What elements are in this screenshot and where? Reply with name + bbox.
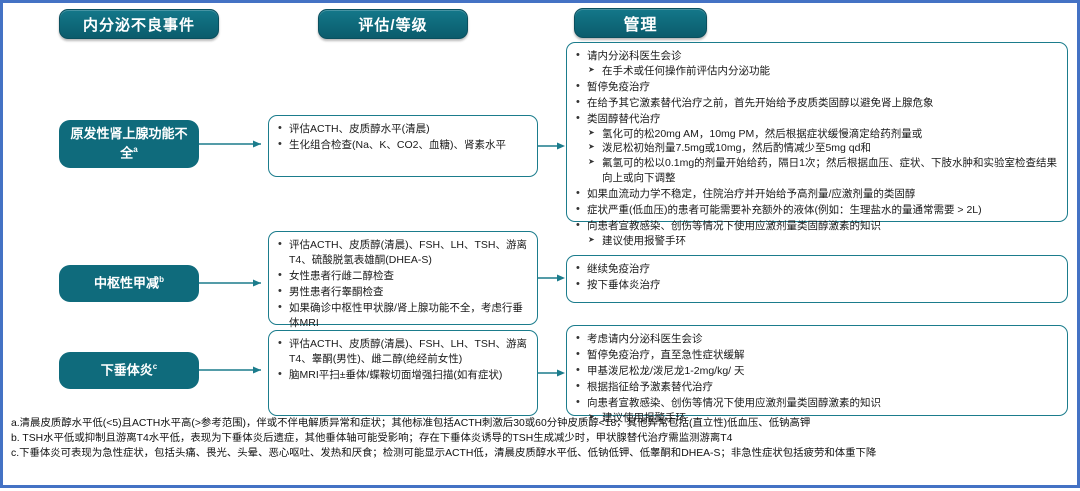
- flowchart-canvas: 内分泌不良事件 评估/等级 管理 原发性肾上腺功能不全a 中枢性甲减b 下垂体炎…: [3, 3, 1080, 491]
- list-item: 脑MRI平扫±垂体/蝶鞍切面增强扫描(如有症状): [275, 368, 529, 383]
- list-item: 向患者宣教感染、创伤等情况下使用应激剂量类固醇激素的知识 建议使用报警手环: [573, 219, 1059, 249]
- category-label: 中枢性甲减: [94, 275, 159, 290]
- list-item: 继续免疫治疗: [573, 262, 1059, 277]
- footnotes: a.清晨皮质醇水平低(<5)且ACTH水平高(>参考范围)，伴或不伴电解质异常和…: [11, 417, 1075, 461]
- list-item: 评估ACTH、皮质醇(清晨)、FSH、LH、TSH、游离T4、睾酮(男性)、雌二…: [275, 337, 529, 367]
- list-item: 生化组合检查(Na、K、CO2、血糖)、肾素水平: [275, 138, 529, 153]
- management-box-thyroid: 继续免疫治疗 按下垂体炎治疗: [566, 255, 1068, 303]
- footnote-c: c.下垂体炎可表现为急性症状，包括头痛、畏光、头晕、恶心呕吐、发热和厌食；检测可…: [11, 447, 1075, 462]
- management-box-hypophysitis: 考虑请内分泌科医生会诊 暂停免疫治疗，直至急性症状缓解 甲基泼尼松龙/泼尼龙1-…: [566, 325, 1068, 416]
- category-primary-adrenal-insufficiency: 原发性肾上腺功能不全a: [59, 120, 199, 168]
- category-label: 原发性肾上腺功能不全: [70, 126, 187, 160]
- list-item: 女性患者行雌二醇检查: [275, 269, 529, 284]
- list-item: 在给予其它激素替代治疗之前，首先开始给予皮质类固醇以避免肾上腺危象: [573, 96, 1059, 111]
- list-item: 如果血流动力学不稳定，住院治疗并开始给予高剂量/应激剂量的类固醇: [573, 187, 1059, 202]
- management-box-adrenal: 请内分泌科医生会诊 在手术或任何操作前评估内分泌功能 暂停免疫治疗 在给予其它激…: [566, 42, 1068, 222]
- list-item: 按下垂体炎治疗: [573, 278, 1059, 293]
- sub-list-item: 建议使用报警手环: [587, 234, 1059, 249]
- sub-list-item: 在手术或任何操作前评估内分泌功能: [587, 64, 1059, 79]
- list-item: 暂停免疫治疗，直至急性症状缓解: [573, 348, 1059, 363]
- header-endocrine-adverse-events: 内分泌不良事件: [59, 9, 219, 39]
- list-item: 考虑请内分泌科医生会诊: [573, 332, 1059, 347]
- header-management: 管理: [574, 8, 707, 38]
- sub-list-item: 氟氢可的松以0.1mg的剂量开始给药，隔日1次；然后根据血压、症状、下肢水肿和实…: [587, 156, 1059, 186]
- category-central-hypothyroidism: 中枢性甲减b: [59, 265, 199, 302]
- list-item: 根据指征给予激素替代治疗: [573, 380, 1059, 395]
- assessment-box-thyroid: 评估ACTH、皮质醇(清晨)、FSH、LH、TSH、游离T4、硫酸脱氢表雄酮(D…: [268, 231, 538, 325]
- sub-list-item: 氢化可的松20mg AM，10mg PM，然后根据症状缓慢滴定给药剂量或: [587, 127, 1059, 142]
- assessment-box-adrenal: 评估ACTH、皮质醇水平(清晨) 生化组合检查(Na、K、CO2、血糖)、肾素水…: [268, 115, 538, 177]
- list-item: 类固醇替代治疗 氢化可的松20mg AM，10mg PM，然后根据症状缓慢滴定给…: [573, 112, 1059, 187]
- list-item: 男性患者行睾酮检查: [275, 285, 529, 300]
- slide-frame: 内分泌不良事件 评估/等级 管理 原发性肾上腺功能不全a 中枢性甲减b 下垂体炎…: [0, 0, 1080, 488]
- list-item: 暂停免疫治疗: [573, 80, 1059, 95]
- footnote-marker: b: [159, 275, 164, 284]
- list-item: 请内分泌科医生会诊 在手术或任何操作前评估内分泌功能: [573, 49, 1059, 79]
- footnote-marker: c: [153, 362, 157, 371]
- category-label: 下垂体炎: [101, 362, 153, 377]
- assessment-box-hypophysitis: 评估ACTH、皮质醇(清晨)、FSH、LH、TSH、游离T4、睾酮(男性)、雌二…: [268, 330, 538, 416]
- list-item: 评估ACTH、皮质醇(清晨)、FSH、LH、TSH、游离T4、硫酸脱氢表雄酮(D…: [275, 238, 529, 268]
- list-item: 症状严重(低血压)的患者可能需要补充额外的液体(例如：生理盐水的量通常需要 > …: [573, 203, 1059, 218]
- header-assessment-grade: 评估/等级: [318, 9, 468, 39]
- footnote-b: b. TSH水平低或抑制且游离T4水平低，表现为下垂体炎后遗症，其他垂体轴可能受…: [11, 432, 1075, 447]
- list-item: 如果确诊中枢性甲状腺/肾上腺功能不全，考虑行垂体MRI: [275, 301, 529, 331]
- list-item: 甲基泼尼松龙/泼尼龙1-2mg/kg/ 天: [573, 364, 1059, 379]
- footnote-marker: a: [133, 145, 137, 154]
- footnote-a: a.清晨皮质醇水平低(<5)且ACTH水平高(>参考范围)，伴或不伴电解质异常和…: [11, 417, 1075, 432]
- list-item: 评估ACTH、皮质醇水平(清晨): [275, 122, 529, 137]
- sub-list-item: 泼尼松初始剂量7.5mg或10mg，然后酌情减少至5mg qd和: [587, 141, 1059, 156]
- category-hypophysitis: 下垂体炎c: [59, 352, 199, 389]
